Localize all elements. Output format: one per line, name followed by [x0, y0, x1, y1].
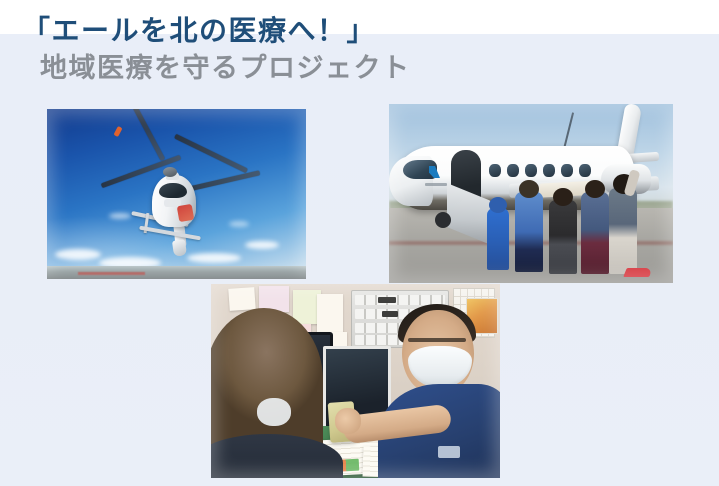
doctor-eye-line: [408, 338, 466, 342]
photo-medical-jet: [389, 104, 673, 283]
ground-marking: [78, 272, 145, 275]
crew-member: [515, 192, 543, 272]
rotor-hub: [163, 167, 177, 177]
shelf-label: [378, 297, 396, 303]
cabin-window: [507, 164, 519, 177]
cloud-icon: [109, 213, 131, 219]
cloud-icon: [55, 249, 101, 260]
cabin-window: [561, 164, 573, 177]
photo-clinic-consultation: [211, 284, 500, 478]
crew-head: [585, 180, 605, 198]
airline-logo-wordmark: [425, 183, 447, 186]
crew-head: [519, 180, 539, 198]
visitor-mask-strap: [257, 398, 291, 426]
crew-member: [581, 192, 609, 274]
crew-head: [553, 188, 573, 206]
cabin-window: [489, 164, 501, 177]
clinic-scene: [211, 284, 500, 478]
headline-secondary: 地域医療を守るプロジェクト: [0, 48, 719, 85]
poster-root: 「エールを北の医療へ！」 地域医療を守るプロジェクト: [0, 0, 719, 486]
crew-member: [609, 188, 637, 274]
cabin-window: [525, 164, 537, 177]
apron-cone-icon: [623, 268, 653, 277]
crew-member: [487, 208, 509, 270]
cockpit-window: [159, 183, 187, 198]
nose-landing-gear: [435, 212, 451, 228]
cloud-icon: [187, 253, 241, 263]
crew-member: [549, 200, 577, 274]
shelf-label: [382, 311, 398, 317]
cloud-icon: [245, 241, 279, 249]
cabin-window: [543, 164, 555, 177]
headline-block: 「エールを北の医療へ！」 地域医療を守るプロジェクト: [0, 14, 719, 85]
doctor-hand: [335, 408, 361, 434]
cabin-window: [579, 164, 591, 177]
photo-doctor-helicopter: [47, 109, 306, 279]
wall-note: [317, 294, 343, 334]
jet-scene: [389, 104, 673, 283]
cloud-icon: [229, 221, 249, 227]
red-livery-stripe: [177, 204, 195, 222]
headline-primary: 「エールを北の医療へ！」: [0, 14, 719, 48]
crew-head: [489, 197, 507, 213]
doctor-id-badge: [438, 446, 460, 458]
helicopter-scene: [47, 109, 306, 279]
wall-note: [228, 287, 255, 311]
